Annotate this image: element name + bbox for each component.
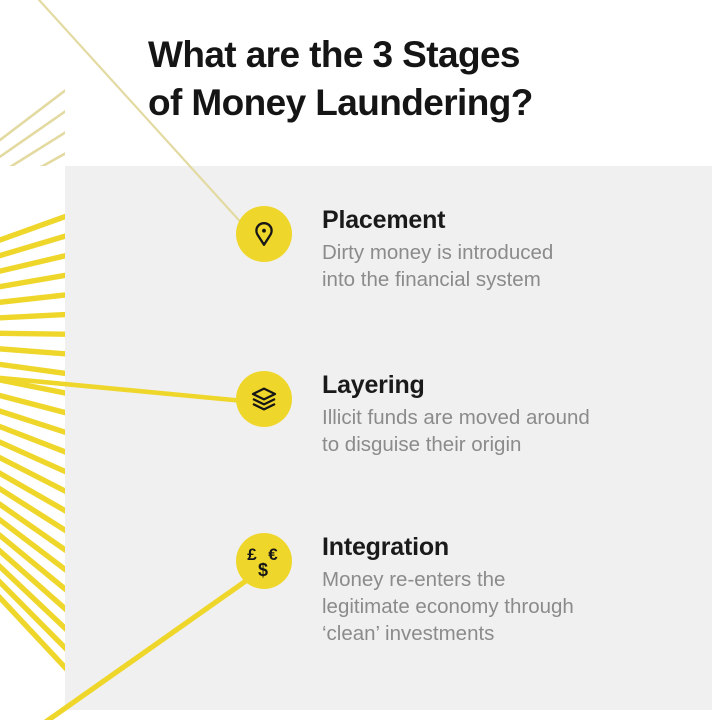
stage-title-integration: Integration (322, 534, 574, 561)
stage-item-layering: Layering Illicit funds are moved around … (236, 371, 590, 458)
stage-title-layering: Layering (322, 372, 590, 399)
stage-description-integration: Money re-enters the legitimate economy t… (322, 566, 574, 648)
stage-title-placement: Placement (322, 207, 553, 234)
currency-euro-glyph: € (268, 545, 278, 564)
stage-text-layering: Layering Illicit funds are moved around … (322, 371, 590, 458)
stage-text-placement: Placement Dirty money is introduced into… (322, 206, 553, 293)
map-pin-icon (249, 219, 279, 249)
stage-item-integration: £ € $ Integration Money re-enters the le… (236, 533, 574, 648)
stage-list: Placement Dirty money is introduced into… (0, 0, 720, 720)
stacked-layers-icon (249, 384, 279, 414)
stage-badge-integration: £ € $ (236, 533, 292, 589)
stage-description-placement: Dirty money is introduced into the finan… (322, 239, 553, 294)
stage-badge-placement (236, 206, 292, 262)
stage-description-layering: Illicit funds are moved around to disgui… (322, 404, 590, 459)
stage-text-integration: Integration Money re-enters the legitima… (322, 533, 574, 648)
stage-item-placement: Placement Dirty money is introduced into… (236, 206, 553, 293)
currency-pound-glyph: £ (247, 545, 257, 564)
currency-dollar-glyph: $ (258, 560, 268, 580)
currency-symbols-icon: £ € $ (243, 541, 285, 581)
stage-badge-layering (236, 371, 292, 427)
infographic-canvas: What are the 3 Stages of Money Launderin… (0, 0, 720, 720)
